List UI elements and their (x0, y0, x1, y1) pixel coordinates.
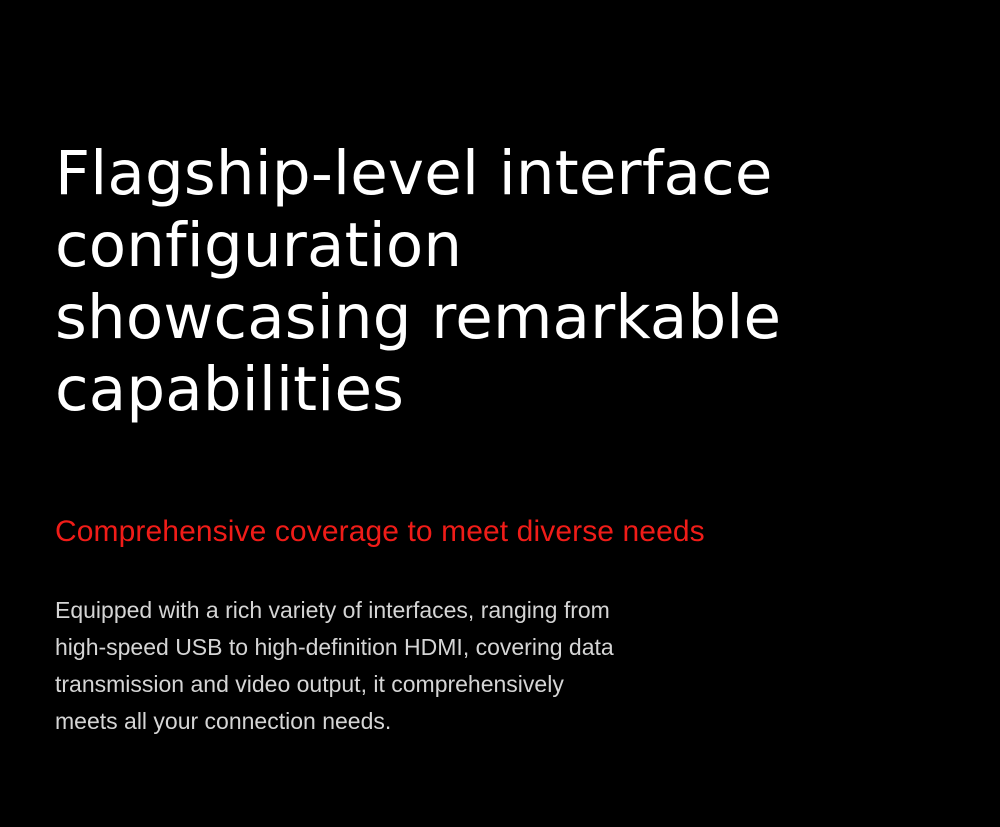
page-title: Flagship-level interface configuration s… (55, 138, 955, 426)
hero-content-block: Flagship-level interface configuration s… (55, 138, 955, 740)
section-subtitle: Comprehensive coverage to meet diverse n… (55, 514, 955, 550)
product-feature-panel: Flagship-level interface configuration s… (0, 0, 1000, 827)
headline-spacer (55, 426, 955, 514)
subtitle-spacer (55, 550, 955, 592)
description-paragraph: Equipped with a rich variety of interfac… (55, 592, 845, 740)
